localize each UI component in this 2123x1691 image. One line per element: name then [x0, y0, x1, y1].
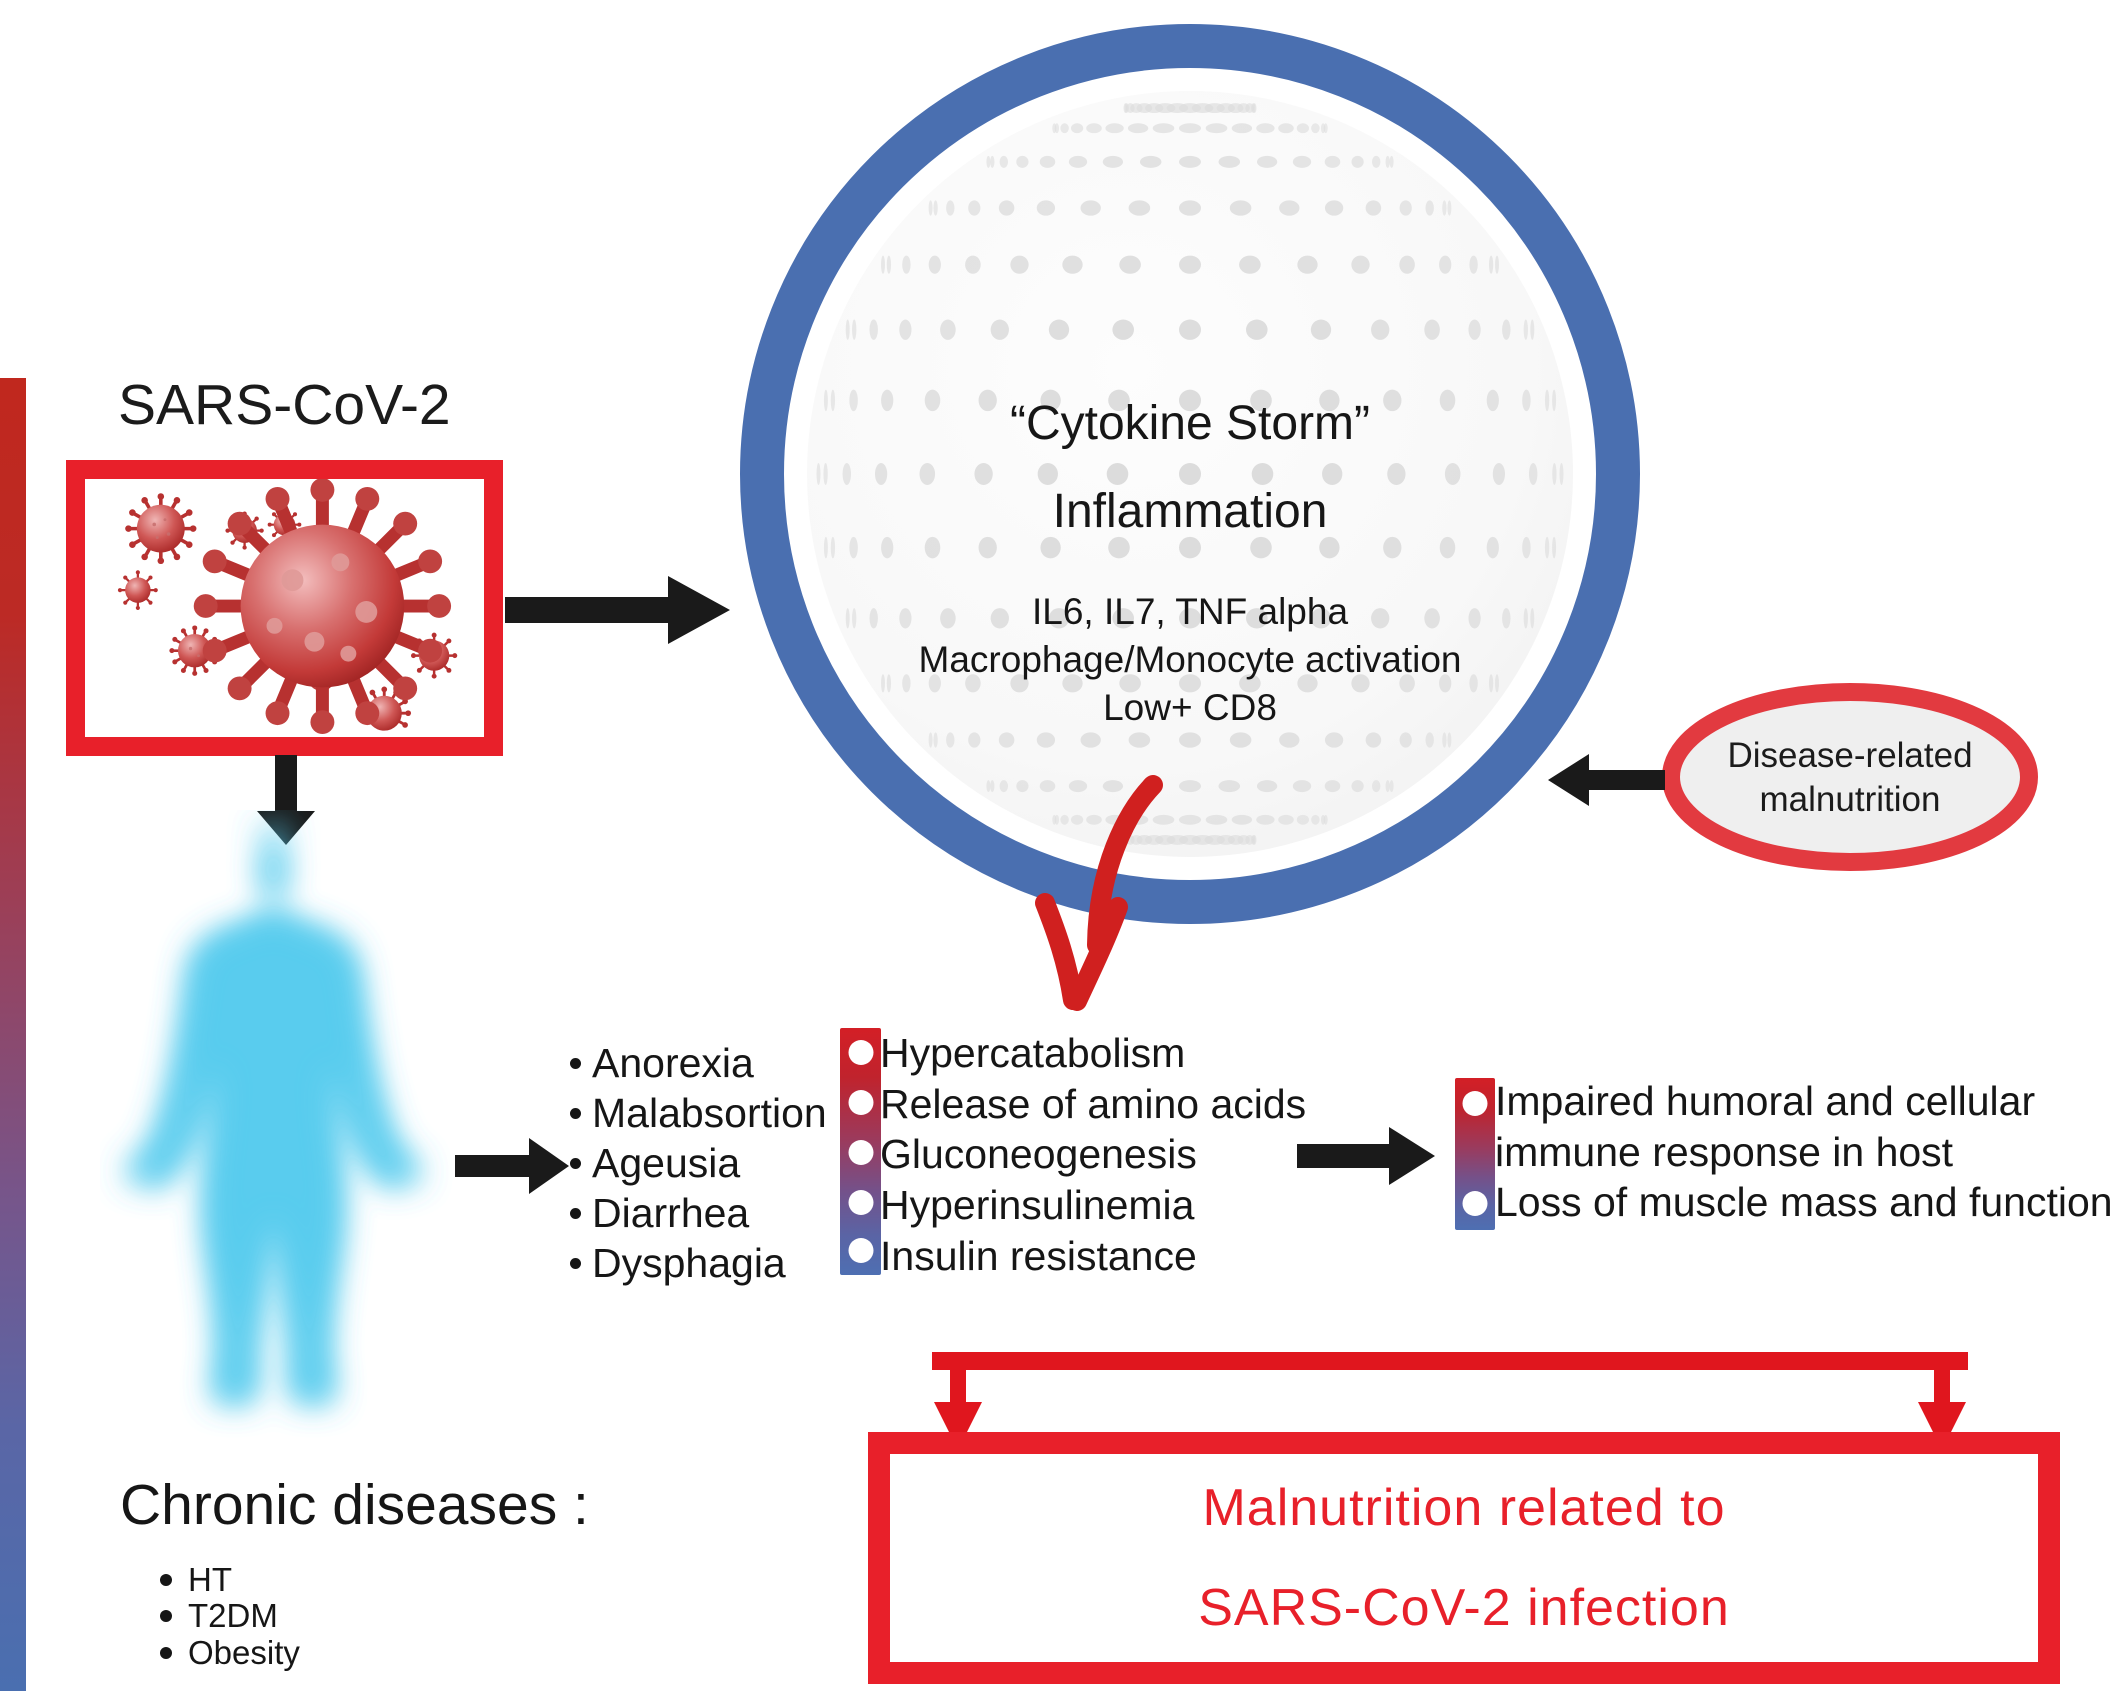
bar-knob-icon [848, 1140, 873, 1165]
bullet-dot-icon [160, 1647, 172, 1659]
metabolic-item: Insulin resistance [880, 1231, 1306, 1282]
human-body-silhouette [100, 810, 500, 1460]
malnutrition-ellipse-line-2: malnutrition [1760, 778, 1941, 822]
bullet-dot-icon [160, 1610, 172, 1622]
symptom-label: Malabsortion [592, 1088, 827, 1138]
list-item: Diarrhea [570, 1188, 827, 1238]
bar-knob-icon [848, 1238, 873, 1263]
chronic-label: T2DM [188, 1598, 278, 1634]
list-item: T2DM [160, 1598, 300, 1634]
virus-image-frame [66, 460, 503, 756]
bar-knob-icon [848, 1190, 873, 1215]
conclusion-box: Malnutrition related to SARS-CoV-2 infec… [868, 1432, 2060, 1684]
metabolic-consequences-list: Hypercatabolism Release of amino acids G… [880, 1028, 1306, 1281]
symptom-label: Diarrhea [592, 1188, 749, 1238]
symptom-label: Anorexia [592, 1038, 754, 1088]
arrow-body-to-symptoms [455, 1135, 571, 1197]
list-item: Ageusia [570, 1138, 827, 1188]
malnutrition-ellipse-line-1: Disease-related [1727, 734, 1972, 778]
bar-knob-icon [1463, 1091, 1488, 1116]
chronic-label: HT [188, 1562, 232, 1598]
bar-knob-icon [848, 1090, 873, 1115]
symptom-list: Anorexia Malabsortion Ageusia Diarrhea D… [570, 1038, 827, 1288]
symptom-label: Dysphagia [592, 1238, 786, 1288]
metabolic-item: Hyperinsulinemia [880, 1180, 1306, 1231]
chronic-diseases-list: HT T2DM Obesity [160, 1562, 300, 1671]
bullet-dot-icon [160, 1574, 172, 1586]
metabolic-item: Gluconeogenesis [880, 1129, 1306, 1180]
virus-illustration [85, 479, 484, 737]
bullet-dot-icon [570, 1208, 581, 1219]
bullet-dot-icon [570, 1108, 581, 1119]
conclusion-line-1: Malnutrition related to [1202, 1482, 1725, 1534]
list-item: Obesity [160, 1635, 300, 1671]
immune-gradient-bar [1455, 1078, 1495, 1230]
disease-related-malnutrition-node: Disease-related malnutrition [1655, 680, 2045, 875]
chronic-diseases-title: Chronic diseases : [120, 1472, 589, 1538]
immune-item: Impaired humoral and cellular [1495, 1076, 2113, 1127]
metabolic-item: Hypercatabolism [880, 1028, 1306, 1079]
bar-knob-icon [1463, 1191, 1488, 1216]
figure-canvas: SARS-CoV-2 [0, 0, 2123, 1691]
immune-consequences-list: Impaired humoral and cellular immune res… [1495, 1076, 2113, 1228]
list-item: Malabsortion [570, 1088, 827, 1138]
conclusion-line-2: SARS-CoV-2 infection [1198, 1582, 1730, 1634]
list-item: Anorexia [570, 1038, 827, 1088]
metabolic-item: Release of amino acids [880, 1079, 1306, 1130]
arrow-metabolic-to-immune [1297, 1125, 1437, 1187]
left-gradient-scale-bar [0, 378, 26, 1691]
list-item: Dysphagia [570, 1238, 827, 1288]
red-curved-arrow-globe-to-metabolism [950, 735, 1250, 1035]
chronic-label: Obesity [188, 1635, 300, 1671]
bullet-dot-icon [570, 1158, 581, 1169]
bar-knob-icon [848, 1040, 873, 1065]
immune-item: immune response in host [1495, 1127, 2113, 1178]
immune-item: Loss of muscle mass and function [1495, 1177, 2113, 1228]
arrow-malnutrition-to-globe [1545, 752, 1665, 808]
metabolic-gradient-bar [840, 1028, 881, 1275]
symptom-label: Ageusia [592, 1138, 740, 1188]
bullet-dot-icon [570, 1058, 581, 1069]
sars-cov-2-title: SARS-CoV-2 [118, 372, 451, 438]
list-item: HT [160, 1562, 300, 1598]
arrow-virus-to-cytokine-storm [505, 570, 735, 650]
bullet-dot-icon [570, 1258, 581, 1269]
